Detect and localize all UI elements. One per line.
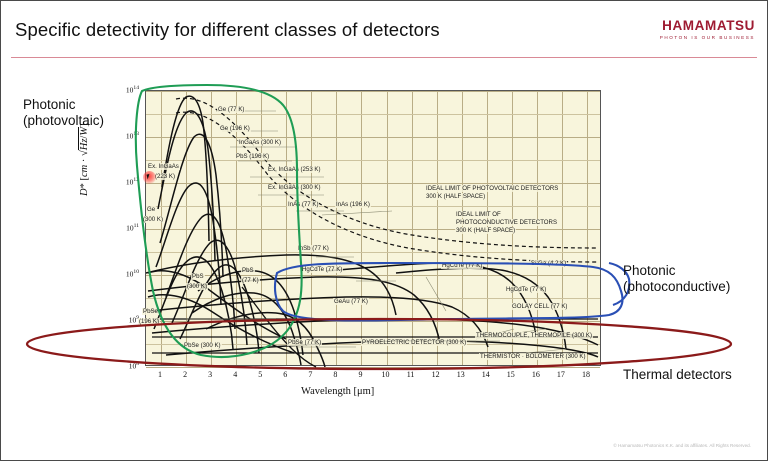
curve-label: InAs (196 K) — [335, 201, 371, 208]
y-tick-label: 1014 — [107, 85, 139, 95]
curve-label: IDEAL LIMIT OF PHOTOVOLTAIC DETECTORS — [425, 185, 559, 192]
annotation-line-2: (photoconductive) — [623, 279, 730, 295]
curve-label: (300 K) — [142, 216, 164, 223]
curve-label: InAs (77 K) — [287, 201, 319, 208]
curve-label: PHOTOCONDUCTIVE DETECTORS — [455, 219, 558, 226]
annotation-line-1: Photonic — [623, 263, 730, 279]
slide-canvas: Specific detectivity for different class… — [0, 0, 768, 461]
x-axis-title: Wavelength [μm] — [301, 386, 374, 397]
curve-label: GOLAY CELL (77 K) — [511, 303, 568, 310]
y-tick-label: 1011 — [107, 223, 139, 233]
x-tick-label: 14 — [479, 370, 493, 379]
curve-label: (300 K) — [186, 283, 208, 290]
curve-label: 300 K (HALF SPACE) — [425, 193, 486, 200]
hamamatsu-logo: HAMAMATSU PHOTON IS OUR BUSINESS — [660, 18, 755, 40]
x-tick-label: 15 — [504, 370, 518, 379]
curve-label: (223 K) — [154, 173, 176, 180]
x-tick-label: 5 — [253, 370, 267, 379]
x-tick-label: 9 — [353, 370, 367, 379]
logo-tagline: PHOTON IS OUR BUSINESS — [660, 35, 755, 40]
annotation-line-1: Photonic — [23, 97, 104, 113]
curve-label: HgCdTe (77 K) — [301, 266, 343, 273]
curve-label: GeAu (77 K) — [333, 298, 369, 305]
curve-label: InSb (77 K) — [297, 245, 330, 252]
curve-label: THERMOCOUPLE, THERMOPILE (300 K) — [475, 332, 593, 339]
annotation-line-1: Thermal detectors — [623, 367, 732, 383]
x-tick-label: 3 — [203, 370, 217, 379]
curve-label: Ex. InGaAs (253 K) — [267, 166, 322, 173]
chart-curves — [146, 91, 602, 367]
x-tick-label: 6 — [278, 370, 292, 379]
curve-label: THERMISTOR · BOLOMETER (300 K) — [479, 353, 587, 360]
x-tick-label: 1 — [153, 370, 167, 379]
curve-label: PbSe (300 K) — [183, 342, 222, 349]
copyright-footer: © Hamamatsu Photonics K.K. and its affil… — [613, 443, 751, 448]
x-tick-label: 10 — [379, 370, 393, 379]
annotation-photonic-photoconductive: Photonic (photoconductive) — [623, 263, 730, 296]
x-tick-label: 7 — [303, 370, 317, 379]
curve-label: PbS — [241, 267, 255, 274]
mouse-cursor — [143, 171, 156, 184]
ideal-limit-curves — [176, 98, 598, 262]
y-tick-label: 108 — [107, 361, 139, 371]
x-tick-label: 2 — [178, 370, 192, 379]
curve-label: HgCdTe (77 K) — [441, 262, 483, 269]
y-tick-label: 1012 — [107, 177, 139, 187]
curve-label: PbS (196 K) — [235, 153, 270, 160]
x-tick-label: 8 — [328, 370, 342, 379]
curve-label: InGaAs (300 K) — [238, 139, 282, 146]
curve-label: HgCdTe (77 K) — [505, 286, 547, 293]
x-tick-label: 18 — [579, 370, 593, 379]
header-divider — [11, 57, 757, 58]
y-tick-label: 1013 — [107, 131, 139, 141]
detectivity-chart — [145, 90, 601, 366]
curve-label: (77 K) — [241, 277, 260, 284]
curve-label: IDEAL LIMIT OF — [455, 211, 502, 218]
y-tick-label: 109 — [107, 315, 139, 325]
logo-wordmark: HAMAMATSU — [660, 18, 755, 33]
page-title: Specific detectivity for different class… — [15, 19, 440, 41]
curve-label: Ge (77 K) — [217, 106, 245, 113]
curve-label: 300 K (HALF SPACE) — [455, 227, 516, 234]
x-tick-label: 11 — [404, 370, 418, 379]
curve-label: PbSe (77 K) — [287, 339, 322, 346]
curve-label: PYROELECTRIC DETECTOR (300 K) — [361, 339, 467, 346]
curve-label: Ex. InGaAs (300 K) — [267, 184, 322, 191]
x-tick-label: 4 — [228, 370, 242, 379]
curve-label: Ex. InGaAs — [147, 163, 180, 170]
x-tick-label: 16 — [529, 370, 543, 379]
curve-label: PbS — [191, 273, 205, 280]
y-axis-title: D* [cm · √Hz/W] — [79, 123, 90, 196]
curve-label: Ge (196 K) — [219, 125, 251, 132]
x-tick-label: 12 — [429, 370, 443, 379]
curve-label: Si:Ga (4.2 K) — [530, 260, 567, 267]
x-tick-label: 13 — [454, 370, 468, 379]
curve-label: PbSe — [142, 308, 159, 315]
annotation-line-2: (photovoltaic) — [23, 113, 104, 129]
y-tick-label: 1010 — [107, 269, 139, 279]
gridline-horizontal — [146, 367, 600, 368]
curve-label: Ge — [146, 206, 156, 213]
annotation-thermal-detectors: Thermal detectors — [623, 367, 732, 383]
annotation-photonic-photovoltaic: Photonic (photovoltaic) — [23, 97, 104, 130]
x-tick-label: 17 — [554, 370, 568, 379]
curve-label: (196 K) — [138, 318, 160, 325]
